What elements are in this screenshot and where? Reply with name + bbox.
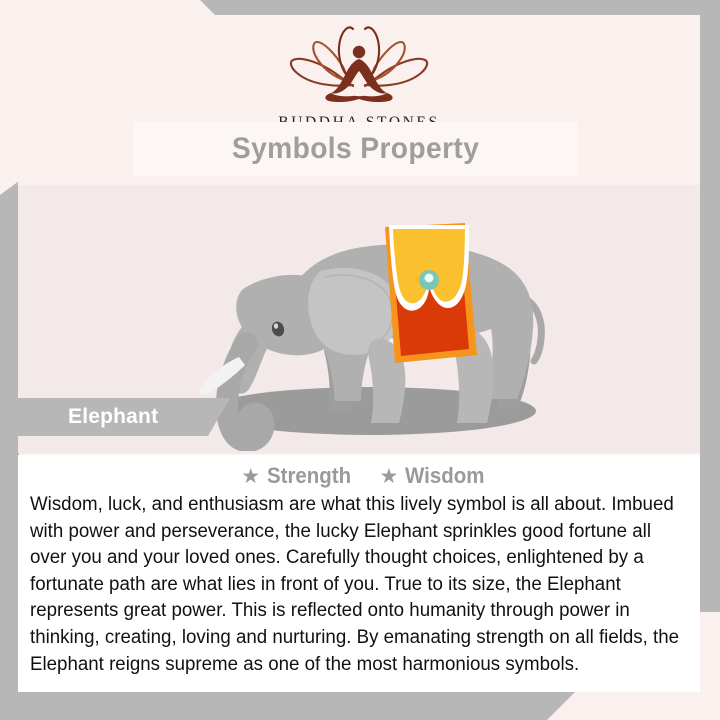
decorative-bar-bottom bbox=[0, 692, 575, 720]
trait-item-wisdom: ★ Wisdom bbox=[380, 463, 491, 489]
decorative-bar-top bbox=[200, 0, 720, 16]
trait-label-strength: Strength bbox=[267, 463, 351, 489]
symbol-name-banner: Elephant bbox=[0, 398, 230, 436]
star-icon: ★ bbox=[380, 466, 399, 487]
lotus-meditation-icon bbox=[283, 25, 435, 108]
symbol-description: Wisdom, luck, and enthusiasm are what th… bbox=[30, 491, 687, 677]
trait-item-strength: ★ Strength bbox=[241, 463, 357, 489]
decorative-bar-left bbox=[0, 181, 19, 693]
brand-logo: BUDDHA STONES bbox=[278, 25, 439, 132]
trait-label-wisdom: Wisdom bbox=[405, 463, 484, 489]
star-icon: ★ bbox=[241, 466, 260, 487]
symbol-info-card: BUDDHA STONES Symbols Property bbox=[0, 0, 720, 720]
decorative-bar-right bbox=[700, 16, 720, 612]
trait-list: ★ Strength ★ Wisdom bbox=[40, 463, 692, 489]
description-panel: ★ Strength ★ Wisdom Wisdom, luck, and en… bbox=[18, 455, 700, 692]
symbol-name: Elephant bbox=[68, 405, 158, 429]
page-title: Symbols Property bbox=[232, 132, 479, 166]
title-panel: Symbols Property bbox=[133, 122, 578, 176]
